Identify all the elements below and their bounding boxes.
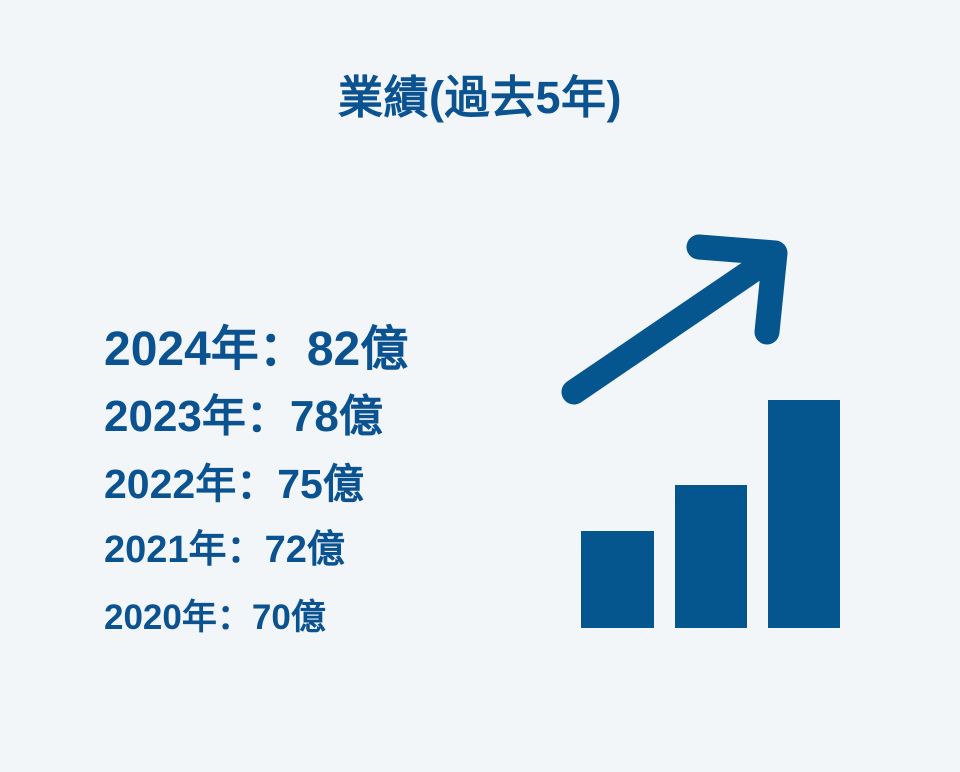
growth-illustration	[540, 215, 870, 645]
slide-canvas: 業績(過去5年) 2024年：82億 2023年：78億 2022年：75億 2…	[0, 0, 960, 772]
figure-year: 2021年	[104, 529, 227, 571]
page-title: 業績(過去5年)	[0, 72, 960, 124]
list-item: 2020年：70億	[104, 584, 524, 651]
figure-amount: 75億	[277, 461, 364, 507]
figure-year: 2020年	[104, 598, 217, 637]
bar-2	[675, 485, 747, 628]
figure-separator: ：	[217, 598, 252, 637]
figure-year: 2022年	[104, 461, 236, 507]
figure-year: 2023年	[104, 392, 246, 441]
figure-separator: ：	[246, 392, 290, 441]
arrow-shaft	[574, 260, 768, 392]
list-item: 2023年：78億	[104, 384, 524, 451]
figure-separator: ：	[236, 461, 277, 507]
list-item: 2024年：82億	[104, 316, 524, 384]
figure-amount: 70億	[252, 598, 326, 637]
figure-amount: 78億	[290, 392, 383, 441]
bar-3	[768, 400, 840, 628]
figure-separator: ：	[259, 323, 307, 376]
growth-chart-graphic	[540, 215, 870, 645]
growth-arrow-icon	[574, 247, 775, 392]
performance-figures-list: 2024年：82億 2023年：78億 2022年：75億 2021年：72億 …	[104, 316, 524, 651]
figure-amount: 82億	[307, 323, 408, 376]
figure-separator: ：	[227, 529, 265, 571]
list-item: 2021年：72億	[104, 517, 524, 584]
list-item: 2022年：75億	[104, 451, 524, 518]
figure-amount: 72億	[265, 529, 345, 571]
bar-1	[581, 531, 654, 628]
figure-year: 2024年	[104, 323, 259, 376]
bar-chart-icon	[581, 400, 840, 628]
